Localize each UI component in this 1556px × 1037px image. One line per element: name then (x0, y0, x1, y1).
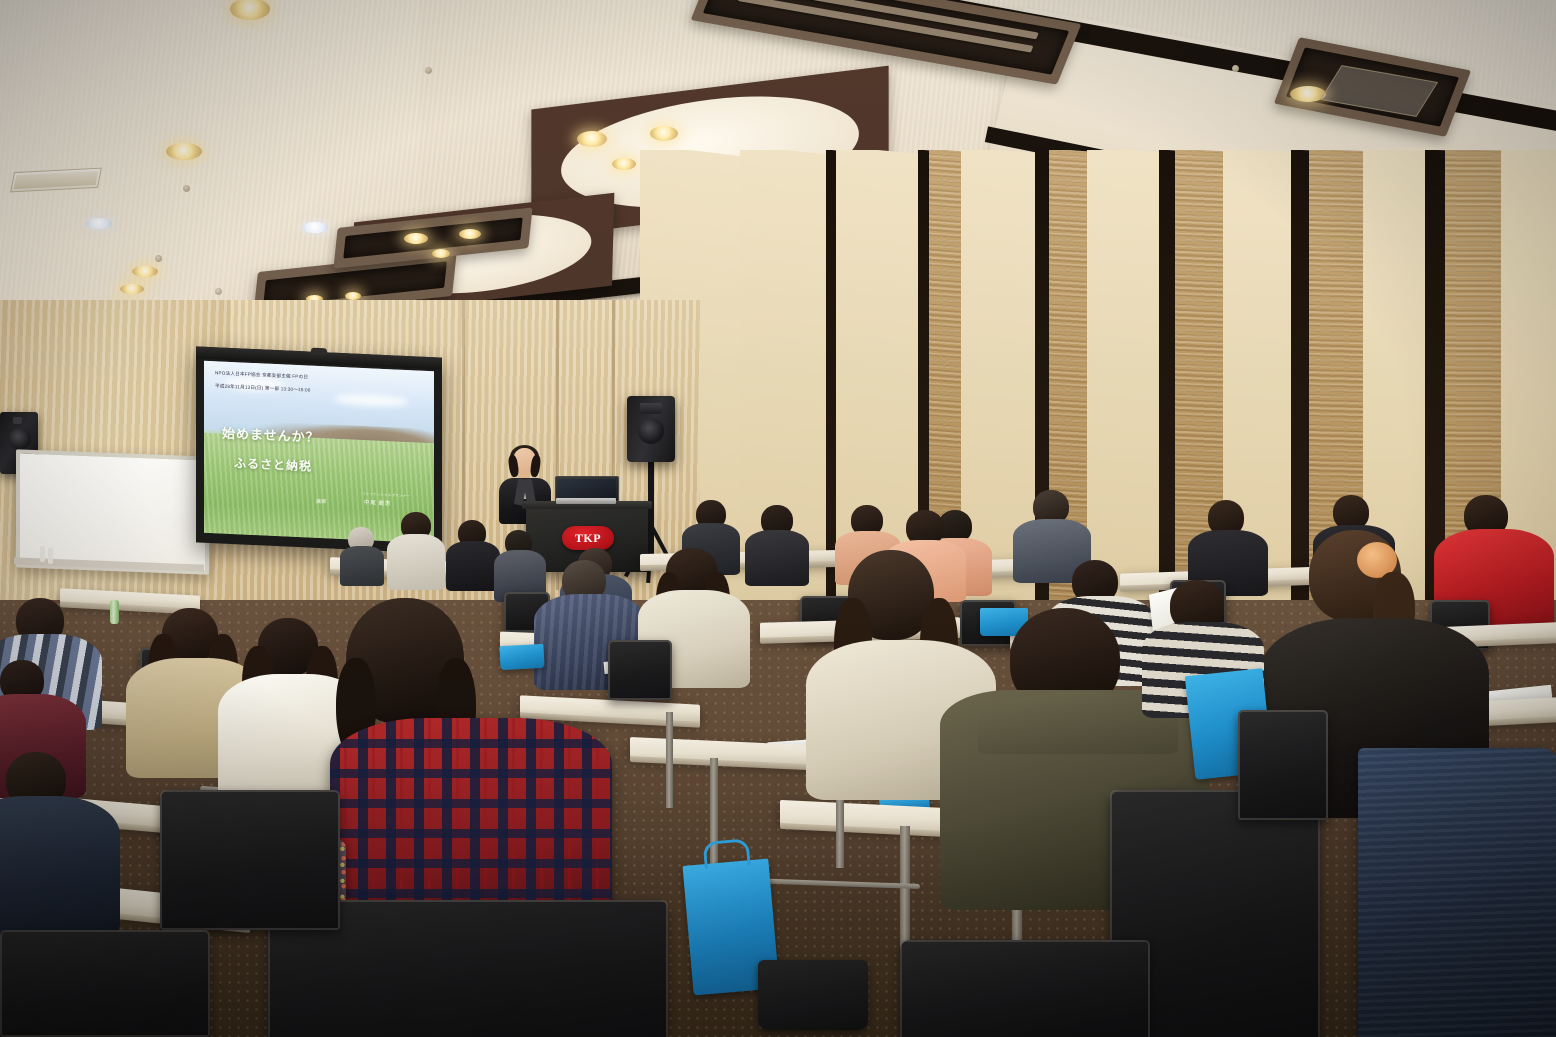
downlight-icon (166, 143, 202, 160)
sprinkler-icon (155, 255, 162, 262)
chair (0, 930, 210, 1037)
downlight-icon (612, 158, 636, 170)
downlight-icon (302, 222, 328, 233)
slide-credit-label: 講師 (316, 498, 327, 505)
denim-jacket (1358, 748, 1556, 1037)
chair (1238, 710, 1328, 820)
tkp-logo-text: TKP (575, 531, 601, 546)
tote-handle (702, 838, 750, 869)
downlight-icon (404, 233, 428, 244)
laptop-screen (558, 479, 616, 499)
pa-speaker (627, 396, 675, 462)
chair-foreground (900, 940, 1150, 1037)
downlight-icon (345, 292, 361, 300)
handbag (758, 960, 868, 1030)
slide-credit-name: 中尾 麗恵 (364, 498, 391, 507)
woofer-icon (638, 418, 664, 444)
horn-icon (640, 403, 662, 414)
table-leg (666, 712, 673, 808)
downlight-icon (132, 266, 158, 277)
sprinkler-icon (215, 288, 222, 295)
sprinkler-icon (1232, 65, 1239, 72)
chair-foreground (160, 790, 340, 930)
slide-rice-field (204, 433, 434, 543)
woofer-icon (9, 428, 31, 450)
downlight-icon (120, 284, 144, 294)
screen-surface: NPO法人日本FP協会 京都支部主催 FPの日 平成28年11月13日(日) 第… (204, 361, 434, 543)
laptop-keyboard (556, 498, 616, 504)
downlight-icon (577, 131, 607, 147)
downlight-icon (459, 229, 481, 239)
downlight-icon (432, 249, 450, 258)
water-bottle (110, 600, 119, 624)
sprinkler-icon (425, 67, 432, 74)
downlight-icon (650, 126, 678, 141)
torso (0, 796, 120, 936)
tote-bag (499, 644, 544, 670)
marker-pen (48, 548, 53, 564)
plaid-flannel-shirt (330, 718, 612, 928)
screen-mount-knob (311, 348, 327, 356)
seminar-room-photo: NPO法人日本FP協会 京都支部主催 FPの日 平成28年11月13日(日) 第… (0, 0, 1556, 1037)
torso (340, 546, 384, 586)
tkp-logo: TKP (562, 526, 614, 550)
torso (745, 530, 809, 586)
chair (608, 640, 672, 700)
torso (446, 541, 500, 591)
slide-subtitle: ふるさと納税 (234, 454, 312, 475)
downlight-icon (86, 218, 112, 229)
sprinkler-icon (183, 185, 190, 192)
marker-pen (40, 546, 45, 562)
tweeter-icon (13, 417, 22, 424)
table-leg (900, 826, 910, 956)
torso (387, 534, 445, 590)
